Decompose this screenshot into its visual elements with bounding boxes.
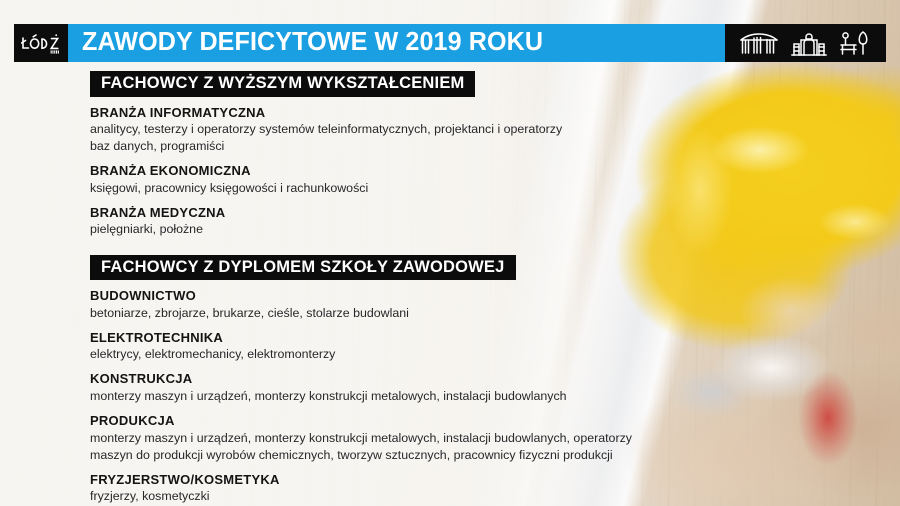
- lodz-park-bench-icon[interactable]: [839, 28, 873, 58]
- category-description-line: analitycy, testerzy i operatorzy systemó…: [90, 121, 700, 138]
- category-description-line: baz danych, programiści: [90, 138, 700, 155]
- header-banner: ZAWODY DEFICYTOWE W 2019 ROKU: [14, 24, 886, 62]
- category-construction: BUDOWNICTWO betoniarze, zbrojarze, bruka…: [90, 289, 900, 322]
- category-it: BRANŻA INFORMATYCZNA analitycy, testerzy…: [90, 106, 900, 156]
- category-name: BRANŻA MEDYCZNA: [90, 206, 900, 221]
- category-description-line: betoniarze, zbrojarze, brukarze, cieśle,…: [90, 305, 700, 322]
- category-name: ELEKTROTECHNIKA: [90, 331, 900, 346]
- category-name: FRYZJERSTWO/KOSMETYKA: [90, 473, 900, 488]
- category-description: monterzy maszyn i urządzeń, monterzy kon…: [90, 430, 700, 464]
- section-higher-education: FACHOWCY Z WYŻSZYM WYKSZTAŁCENIEM BRANŻA…: [0, 62, 900, 239]
- lodz-logo[interactable]: [14, 24, 68, 62]
- section-vocational-diploma: FACHOWCY Z DYPLOMEM SZKOŁY ZAWODOWEJ BUD…: [0, 239, 900, 506]
- category-description-line: monterzy maszyn i urządzeń, monterzy kon…: [90, 430, 700, 447]
- section-heading: FACHOWCY Z WYŻSZYM WYKSZTAŁCENIEM: [90, 71, 475, 97]
- lodz-logo-icon: [21, 32, 61, 54]
- category-name: BRANŻA EKONOMICZNA: [90, 164, 900, 179]
- category-description: fryzjerzy, kosmetyczki: [90, 488, 700, 505]
- category-electrical: ELEKTROTECHNIKA elektrycy, elektromechan…: [90, 331, 900, 364]
- lodz-logo-bars: [51, 50, 59, 53]
- category-description-line: maszyn do produkcji wyrobów chemicznych,…: [90, 447, 700, 464]
- content-area: FACHOWCY Z WYŻSZYM WYKSZTAŁCENIEM BRANŻA…: [0, 62, 900, 505]
- category-economics: BRANŻA EKONOMICZNA księgowi, pracownicy …: [90, 164, 900, 197]
- category-description: betoniarze, zbrojarze, brukarze, cieśle,…: [90, 305, 700, 322]
- lodz-gate-icon[interactable]: [790, 28, 828, 58]
- lodz-manufaktura-icon[interactable]: [739, 30, 779, 56]
- category-description-line: elektrycy, elektromechanicy, elektromont…: [90, 346, 700, 363]
- category-name: KONSTRUKCJA: [90, 372, 900, 387]
- category-description-line: księgowi, pracownicy księgowości i rachu…: [90, 180, 700, 197]
- category-name: PRODUKCJA: [90, 414, 900, 429]
- header-icon-group: [725, 24, 886, 62]
- category-description: analitycy, testerzy i operatorzy systemó…: [90, 121, 700, 155]
- category-description-line: monterzy maszyn i urządzeń, monterzy kon…: [90, 388, 700, 405]
- category-structures: KONSTRUKCJA monterzy maszyn i urządzeń, …: [90, 372, 900, 405]
- category-description: monterzy maszyn i urządzeń, monterzy kon…: [90, 388, 700, 405]
- category-name: BUDOWNICTWO: [90, 289, 900, 304]
- category-description-line: fryzjerzy, kosmetyczki: [90, 488, 700, 505]
- category-description-line: pielęgniarki, położne: [90, 221, 700, 238]
- header-title-bar: ZAWODY DEFICYTOWE W 2019 ROKU: [68, 24, 725, 62]
- category-production: PRODUKCJA monterzy maszyn i urządzeń, mo…: [90, 414, 900, 464]
- page-title: ZAWODY DEFICYTOWE W 2019 ROKU: [82, 30, 543, 56]
- section-heading: FACHOWCY Z DYPLOMEM SZKOŁY ZAWODOWEJ: [90, 255, 516, 281]
- category-name: BRANŻA INFORMATYCZNA: [90, 106, 900, 121]
- category-medical: BRANŻA MEDYCZNA pielęgniarki, położne: [90, 206, 900, 239]
- category-description: księgowi, pracownicy księgowości i rachu…: [90, 180, 700, 197]
- category-description: pielęgniarki, położne: [90, 221, 700, 238]
- category-description: elektrycy, elektromechanicy, elektromont…: [90, 346, 700, 363]
- category-hairdressing-cosmetics: FRYZJERSTWO/KOSMETYKA fryzjerzy, kosmety…: [90, 473, 900, 506]
